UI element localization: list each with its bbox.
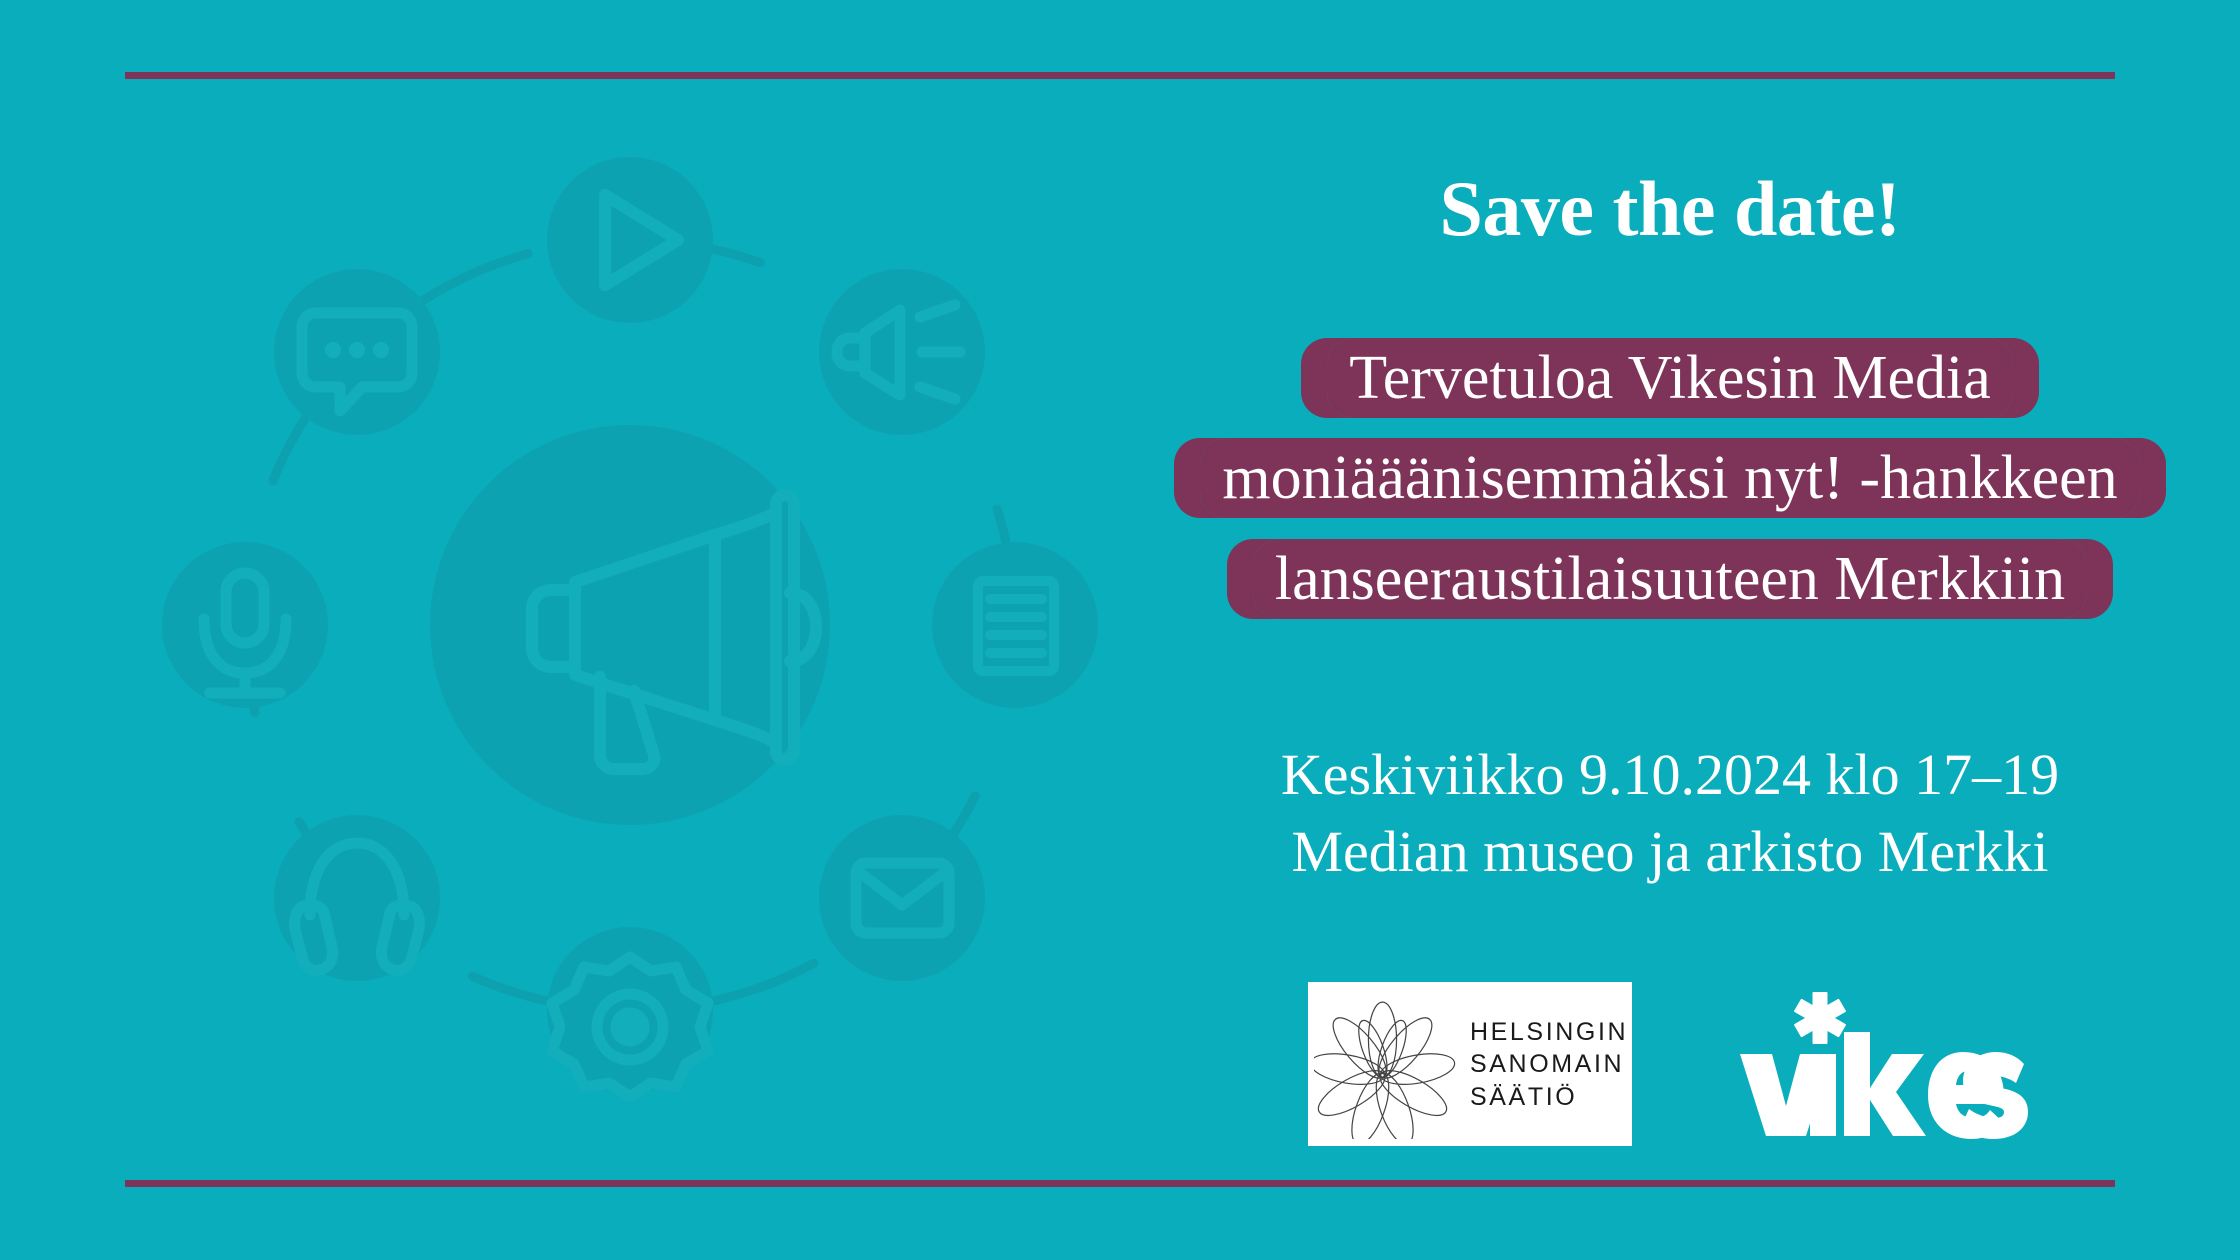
flower-petal-icon	[1314, 989, 1466, 1139]
envelope-icon	[819, 815, 985, 981]
microphone-icon	[162, 542, 328, 708]
aperture-icon	[547, 927, 713, 1097]
hs-line-2: SANOMAIN	[1470, 1048, 1628, 1081]
vikes-logo	[1732, 984, 2032, 1144]
document-icon	[932, 542, 1098, 708]
speaker-icon	[819, 269, 985, 435]
highlight-block: Tervetuloa Vikesin Media moniääänisemmäk…	[1190, 328, 2150, 629]
content-column: Save the date! Tervetuloa Vikesin Media …	[1190, 150, 2150, 1160]
chat-bubble-icon	[274, 269, 440, 435]
helsingin-sanomain-saatio-wordmark: HELSINGIN SANOMAIN SÄÄTIÖ	[1470, 1016, 1628, 1114]
top-divider-rule	[125, 72, 2115, 79]
event-datetime: Keskiviikko 9.10.2024 klo 17–19	[1281, 737, 2059, 814]
poster-canvas: Save the date! Tervetuloa Vikesin Media …	[0, 0, 2240, 1260]
hs-line-3: SÄÄTIÖ	[1470, 1081, 1628, 1114]
event-venue: Median museo ja arkisto Merkki	[1281, 814, 2059, 891]
page-title: Save the date!	[1440, 168, 1901, 250]
logo-row: HELSINGIN SANOMAIN SÄÄTIÖ	[1308, 982, 2032, 1146]
event-description: Tervetuloa Vikesin Media moniääänisemmäk…	[1200, 338, 2139, 619]
hs-line-1: HELSINGIN	[1470, 1016, 1628, 1049]
bottom-divider-rule	[125, 1180, 2115, 1187]
megaphone-icon	[430, 425, 830, 825]
asterisk-icon	[1794, 992, 1847, 1044]
media-icons-watermark	[100, 95, 1160, 1155]
helsingin-sanomain-saatio-logo: HELSINGIN SANOMAIN SÄÄTIÖ	[1308, 982, 1632, 1146]
play-icon	[547, 157, 713, 323]
event-details: Keskiviikko 9.10.2024 klo 17–19 Median m…	[1281, 737, 2059, 890]
headphones-icon	[274, 815, 440, 981]
